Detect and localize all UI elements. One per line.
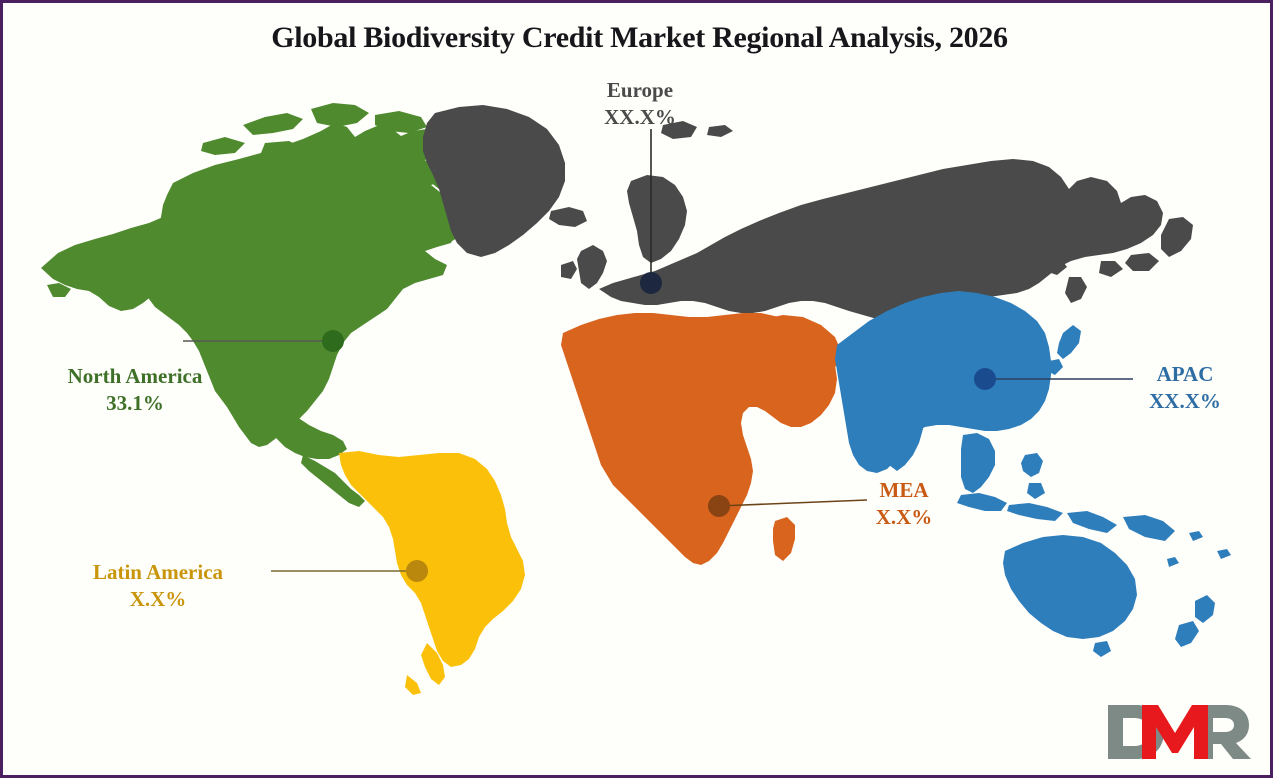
region-name-north-america: North America (30, 363, 240, 390)
region-north-america[interactable] (41, 103, 473, 507)
marker-north-america (322, 330, 344, 352)
region-apac[interactable] (835, 291, 1231, 657)
marker-latin-america (406, 560, 428, 582)
region-name-europe: Europe (555, 77, 725, 104)
region-name-apac: APAC (1120, 361, 1250, 388)
region-label-mea[interactable]: MEA X.X% (839, 477, 969, 531)
logo-letter-m (1142, 705, 1208, 759)
region-label-apac[interactable]: APAC XX.X% (1120, 361, 1250, 415)
region-value-apac: XX.X% (1120, 388, 1250, 415)
region-latin-america[interactable] (339, 451, 525, 695)
region-label-north-america[interactable]: North America 33.1% (30, 363, 240, 417)
infographic-page: Global Biodiversity Credit Market Region… (0, 0, 1273, 778)
region-value-mea: X.X% (839, 504, 969, 531)
region-value-europe: XX.X% (555, 104, 725, 131)
marker-europe (640, 272, 662, 294)
region-label-latin-america[interactable]: Latin America X.X% (53, 559, 263, 613)
region-value-latin-america: X.X% (53, 586, 263, 613)
marker-mea (708, 495, 730, 517)
region-name-latin-america: Latin America (53, 559, 263, 586)
region-name-mea: MEA (839, 477, 969, 504)
region-mea[interactable] (561, 313, 841, 565)
region-label-europe[interactable]: Europe XX.X% (555, 77, 725, 131)
marker-apac (974, 368, 996, 390)
dmr-logo (1102, 699, 1252, 765)
region-value-north-america: 33.1% (30, 390, 240, 417)
region-europe[interactable] (423, 105, 1193, 321)
